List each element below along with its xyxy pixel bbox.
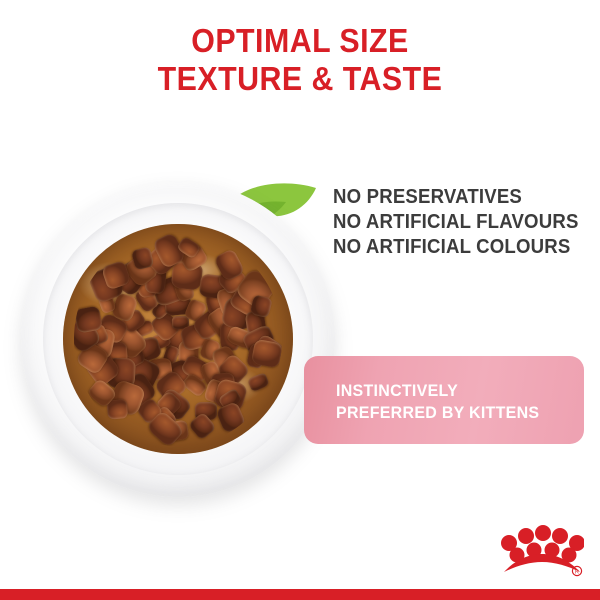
royal-canin-crown-logo: R	[500, 521, 584, 579]
benefit-claim-3: NO ARTIFICIAL COLOURS	[333, 235, 566, 260]
kitten-preference-banner: INSTINCTIVELY PREFERRED BY KITTENS	[304, 356, 584, 444]
benefit-claim-1: NO PRESERVATIVES	[333, 185, 566, 210]
meat-chunk-cluster	[74, 232, 281, 447]
meat-chunk	[131, 246, 154, 270]
meat-chunk	[107, 400, 129, 421]
product-food-bowl-image	[21, 181, 335, 497]
kitten-preference-banner-text: INSTINCTIVELY PREFERRED BY KITTENS	[336, 380, 539, 424]
svg-text:R: R	[575, 570, 579, 576]
benefit-claims-list: NO PRESERVATIVES NO ARTIFICIAL FLAVOURS …	[333, 185, 566, 260]
banner-line-2: PREFERRED BY KITTENS	[336, 402, 539, 424]
page-title: OPTIMAL SIZE TEXTURE & TASTE	[24, 22, 576, 98]
meat-chunk	[247, 372, 270, 393]
product-feature-panel: OPTIMAL SIZE TEXTURE & TASTE NO PRESERVA…	[0, 0, 600, 600]
headline-line-1: OPTIMAL SIZE	[24, 22, 576, 60]
banner-line-1: INSTINCTIVELY	[336, 380, 539, 402]
headline-line-2: TEXTURE & TASTE	[24, 60, 576, 98]
benefit-claim-2: NO ARTIFICIAL FLAVOURS	[333, 210, 566, 235]
meat-chunk	[251, 339, 281, 368]
footer-accent-bar	[0, 589, 600, 600]
